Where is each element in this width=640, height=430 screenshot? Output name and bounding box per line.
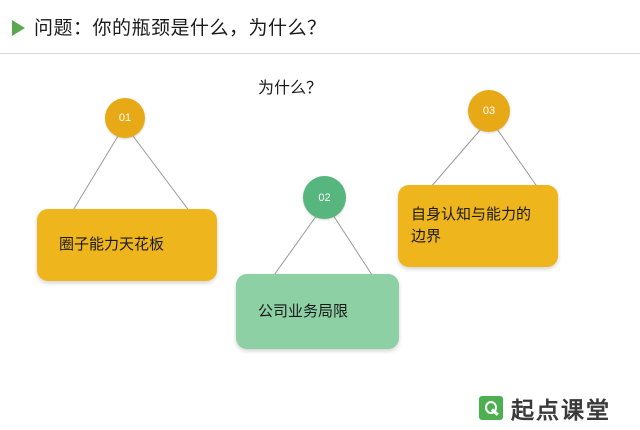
slide: 问题：你的瓶颈是什么，为什么？ 为什么？ 01 02 03 圈子能力天花板 公司… (0, 0, 640, 430)
diagram-canvas: 为什么？ 01 02 03 圈子能力天花板 公司业务局限 自身认知与能力的边界 (0, 54, 640, 430)
node-number-label: 01 (119, 112, 131, 124)
node-card-label: 公司业务局限 (258, 301, 348, 323)
slide-header: 问题：你的瓶颈是什么，为什么？ (0, 0, 640, 54)
node-number-01: 01 (105, 98, 145, 138)
node-card-01: 圈子能力天花板 (37, 209, 217, 281)
q-mark-icon (479, 396, 503, 420)
node-card-label: 自身认知与能力的边界 (411, 204, 545, 248)
node-card-03: 自身认知与能力的边界 (398, 185, 558, 267)
node-card-label: 圈子能力天花板 (59, 234, 164, 256)
brand-logo: 起点课堂 (479, 391, 611, 425)
q-mark-tail (491, 408, 499, 415)
node-number-02: 02 (303, 176, 346, 219)
node-card-02: 公司业务局限 (236, 274, 399, 349)
brand-logo-text: 起点课堂 (511, 391, 611, 425)
node-number-label: 03 (483, 105, 495, 117)
node-number-label: 02 (318, 192, 330, 204)
triangle-right-icon (12, 20, 25, 36)
node-number-03: 03 (468, 90, 510, 132)
page-title: 问题：你的瓶颈是什么，为什么？ (34, 13, 327, 40)
